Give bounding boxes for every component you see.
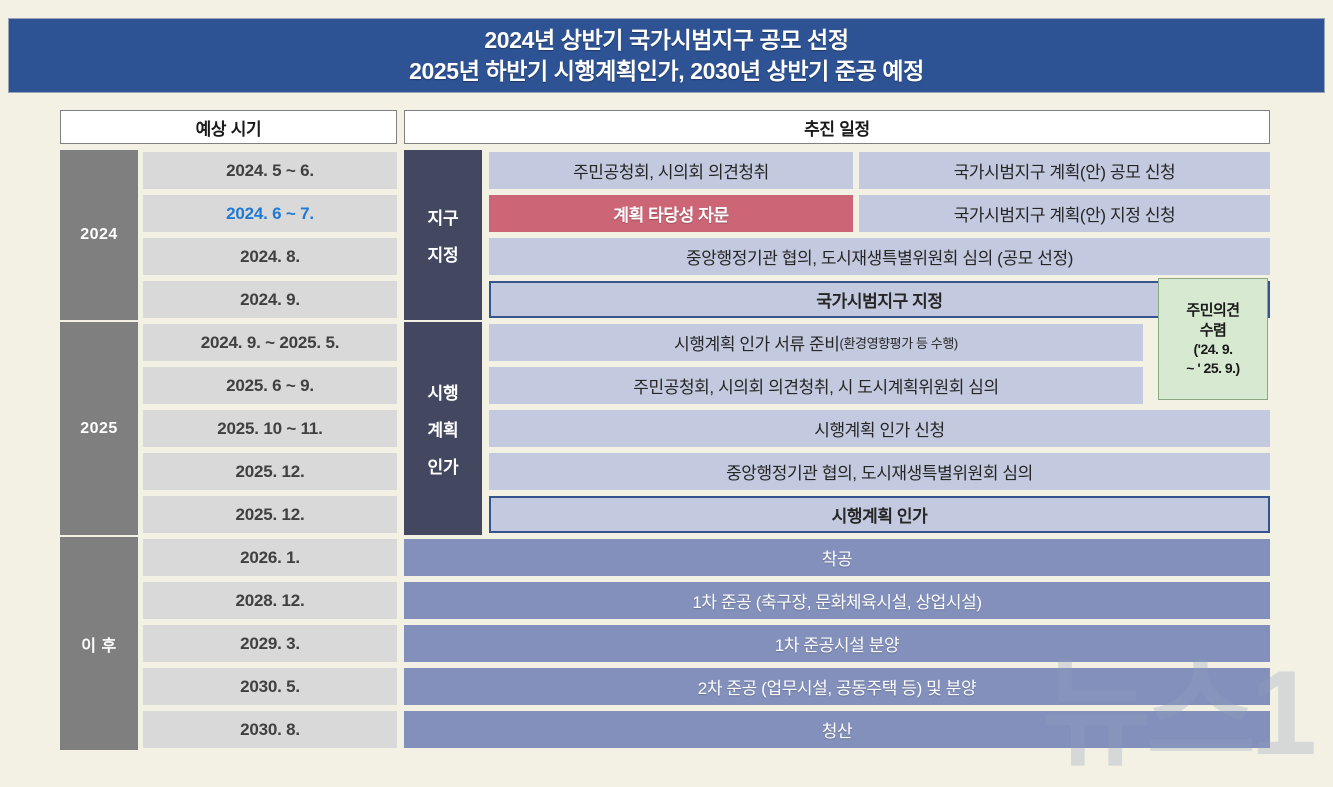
task-bar-label: 시행계획 인가: [832, 502, 928, 527]
title-banner: 2024년 상반기 국가시범지구 공모 선정 2025년 하반기 시행계획인가,…: [8, 18, 1325, 93]
date-cell: 2025. 6 ~ 9.: [143, 367, 397, 404]
column-header-schedule: 추진 일정: [404, 110, 1270, 144]
task-bar-label: 1차 준공 (축구장, 문화체육시설, 상업시설): [692, 588, 981, 613]
task-bar: 국가시범지구 계획(안) 공모 신청: [859, 152, 1270, 189]
task-bar: 국가시범지구 계획(안) 지정 신청: [859, 195, 1270, 232]
task-bar-label: 국가시범지구 지정: [816, 287, 942, 312]
task-bar-label: 주민공청회, 시의회 의견청취: [573, 158, 769, 183]
task-bar: 주민공청회, 시의회 의견청취: [489, 152, 853, 189]
task-bar-label: 1차 준공시설 분양: [775, 631, 899, 656]
resident-opinion-note: 주민의견 수렴 ('24. 9. ~ ' 25. 9.): [1158, 278, 1268, 400]
task-bar: 중앙행정기관 협의, 도시재생특별위원회 심의 (공모 선정): [489, 238, 1270, 275]
date-cell: 2025. 10 ~ 11.: [143, 410, 397, 447]
task-bar-label: 국가시범지구 계획(안) 공모 신청: [954, 158, 1176, 183]
phase-group-label-line: 지구: [428, 204, 459, 229]
task-bar: 중앙행정기관 협의, 도시재생특별위원회 심의: [489, 453, 1270, 490]
task-bar: 주민공청회, 시의회 의견청취, 시 도시계획위원회 심의: [489, 367, 1143, 404]
date-cell: 2025. 12.: [143, 453, 397, 490]
column-header-period: 예상 시기: [60, 110, 397, 144]
phase-group-0: 지구지정: [404, 150, 482, 320]
title-line-2: 2025년 하반기 시행계획인가, 2030년 상반기 준공 예정: [409, 57, 924, 86]
task-bar-label: 착공: [822, 545, 852, 570]
task-bar-label: 중앙행정기관 협의, 도시재생특별위원회 심의 (공모 선정): [686, 244, 1073, 269]
timeline-infographic: 2024년 상반기 국가시범지구 공모 선정 2025년 하반기 시행계획인가,…: [0, 0, 1333, 787]
phase-group-label-line: 시행: [428, 379, 459, 404]
resident-opinion-title-2: 수렴: [1200, 321, 1227, 341]
phase-group-1: 시행계획인가: [404, 322, 482, 535]
task-bar: 시행계획 인가 서류 준비 (환경영향평가 등 수행): [489, 324, 1143, 361]
task-bar: 1차 준공시설 분양: [404, 625, 1270, 662]
task-bar-label: 국가시범지구 계획(안) 지정 신청: [954, 201, 1176, 226]
date-cell: 2026. 1.: [143, 539, 397, 576]
task-bar: 착공: [404, 539, 1270, 576]
resident-opinion-date-2: ~ ' 25. 9.): [1186, 359, 1239, 377]
task-bar: 계획 타당성 자문: [489, 195, 853, 232]
date-cell: 2030. 8.: [143, 711, 397, 748]
date-cell: 2029. 3.: [143, 625, 397, 662]
date-cell: 2028. 12.: [143, 582, 397, 619]
phase-group-label-line: 지정: [428, 241, 459, 266]
date-cell: 2025. 12.: [143, 496, 397, 533]
task-bar: 1차 준공 (축구장, 문화체육시설, 상업시설): [404, 582, 1270, 619]
year-group-label: 2024: [80, 226, 118, 244]
task-bar: 청산: [404, 711, 1270, 748]
task-bar-label: 중앙행정기관 협의, 도시재생특별위원회 심의: [726, 459, 1033, 484]
task-bar: 2차 준공 (업무시설, 공동주택 등) 및 분양: [404, 668, 1270, 705]
task-bar-label: 2차 준공 (업무시설, 공동주택 등) 및 분양: [698, 674, 976, 699]
task-bar-label: 주민공청회, 시의회 의견청취, 시 도시계획위원회 심의: [633, 373, 999, 398]
task-bar-label: 시행계획 인가 신청: [814, 416, 945, 441]
resident-opinion-title-1: 주민의견: [1186, 301, 1239, 321]
task-bar-label: 계획 타당성 자문: [613, 201, 728, 226]
phase-group-label-line: 계획: [428, 416, 459, 441]
year-group-2: 이 후: [60, 537, 138, 750]
task-bar: 시행계획 인가 신청: [489, 410, 1270, 447]
task-bar: 시행계획 인가: [489, 496, 1270, 533]
year-group-label: 2025: [80, 420, 118, 438]
task-bar-sublabel: (환경영향평가 등 수행): [840, 333, 958, 352]
date-cell: 2024. 5 ~ 6.: [143, 152, 397, 189]
title-line-1: 2024년 상반기 국가시범지구 공모 선정: [484, 26, 848, 55]
resident-opinion-date-1: ('24. 9.: [1193, 340, 1232, 358]
date-cell: 2024. 9.: [143, 281, 397, 318]
phase-group-label-line: 인가: [428, 453, 459, 478]
task-bar-label: 청산: [822, 717, 852, 742]
year-group-1: 2025: [60, 322, 138, 535]
date-cell: 2024. 9. ~ 2025. 5.: [143, 324, 397, 361]
date-cell: 2030. 5.: [143, 668, 397, 705]
task-bar: 국가시범지구 지정: [489, 281, 1270, 318]
task-bar-label: 시행계획 인가 서류 준비: [674, 330, 839, 355]
date-cell: 2024. 8.: [143, 238, 397, 275]
year-group-label: 이 후: [81, 632, 116, 656]
year-group-0: 2024: [60, 150, 138, 320]
date-cell: 2024. 6 ~ 7.: [143, 195, 397, 232]
